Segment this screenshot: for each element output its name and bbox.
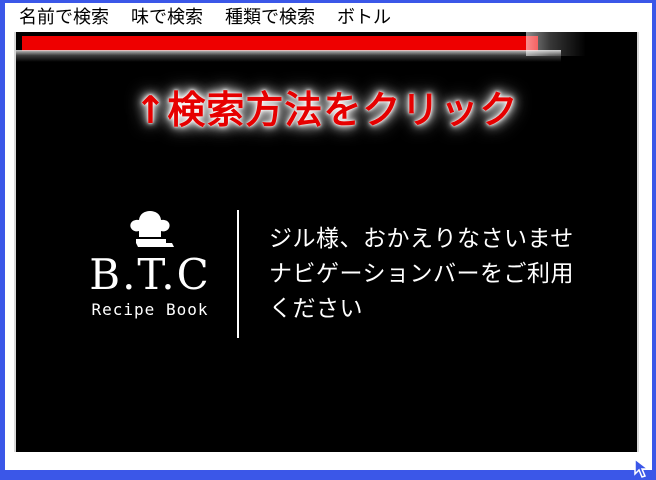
welcome-line-instruction-2: ください [269, 292, 631, 327]
chef-hat-icon [122, 206, 178, 250]
brand-logo: B.T.C Recipe Book [71, 200, 229, 321]
navigation-bar: 名前で検索 味で検索 種類で検索 ボトル [5, 3, 652, 32]
nav-item-search-by-taste[interactable]: 味で検索 [131, 8, 213, 28]
click-search-method-heading: ↑検索方法をクリック [16, 88, 637, 132]
welcome-message: ジル様、おかえりなさいませ ナビゲーションバーをご利用 ください [239, 200, 631, 327]
welcome-line-instruction-1: ナビゲーションバーをご利用 [269, 257, 631, 292]
page-content-area: ↑検索方法をクリック B.T.C Recipe Book ジル様、おかえりなさい… [14, 32, 639, 452]
nav-item-search-by-type[interactable]: 種類で検索 [225, 8, 325, 28]
brand-initials: B.T.C [71, 252, 229, 298]
page-viewport: 名前で検索 味で検索 種類で検索 ボトル ↑検索方法をクリック B.T.C [5, 3, 652, 470]
red-accent-bar [22, 36, 538, 51]
welcome-line-greeting: ジル様、おかえりなさいませ [269, 222, 631, 257]
nav-item-search-by-name[interactable]: 名前で検索 [19, 8, 119, 28]
brand-subtitle: Recipe Book [71, 299, 229, 321]
browser-window-frame: 名前で検索 味で検索 種類で検索 ボトル ↑検索方法をクリック B.T.C [0, 0, 656, 480]
welcome-block: B.T.C Recipe Book ジル様、おかえりなさいませ ナビゲーションバ… [71, 200, 631, 350]
accent-bar-glow [16, 50, 561, 62]
status-strip [5, 459, 652, 470]
nav-item-bottle[interactable]: ボトル [337, 8, 401, 28]
